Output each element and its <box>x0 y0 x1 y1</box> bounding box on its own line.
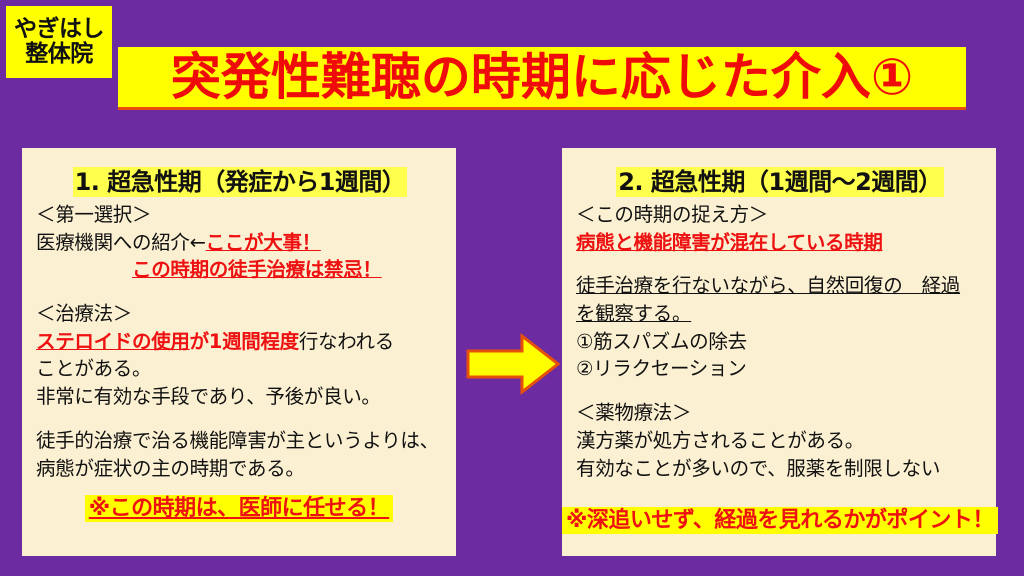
panel-2-line-3-text: 徒手治療を行ないながら、自然回復の 経過 <box>576 274 960 297</box>
panel-2-line-4-text: を観察する。 <box>576 302 691 325</box>
logo-line-2: 整体院 <box>25 42 93 67</box>
panel-phase-1: 1. 超急性期（発症から1週間） ＜第一選択＞ 医療機関への紹介←ここが大事！ … <box>22 148 456 556</box>
panel-1-line-9: 病態が症状の主の時期である。 <box>36 455 444 483</box>
panel-1-line-3-emphasis: この時期の徒手治療は禁忌！ <box>132 258 382 281</box>
panel-2-line-1: ＜この時期の捉え方＞ <box>576 201 984 229</box>
panel-2-line-5: ＜薬物療法＞ <box>576 399 984 427</box>
panel-1-line-1: ＜第一選択＞ <box>36 201 444 229</box>
logo-line-1: やぎはし <box>14 17 104 42</box>
panel-2-heading: 2. 超急性期（1週間～2週間） <box>576 162 984 197</box>
panel-1-line-8: 徒手的治療で治る機能障害が主というよりは、 <box>36 427 444 455</box>
panel-2-heading-text: 2. 超急性期（1週間～2週間） <box>616 167 944 197</box>
panel-1-line-4: ＜治療法＞ <box>36 300 444 328</box>
panel-1-line-2-main: 医療機関への紹介← <box>36 231 206 254</box>
panel-2-line-2: 病態と機能障害が混在している時期 <box>576 229 984 257</box>
panel-1-spacer-1 <box>36 284 444 300</box>
panel-2-line-2-emphasis: 病態と機能障害が混在している時期 <box>576 231 883 254</box>
panel-2-line-3: 徒手治療を行ないながら、自然回復の 経過 <box>576 272 984 300</box>
panel-1-line-6: ことがある。 <box>36 355 444 383</box>
panel-1-footer-wrap: ※この時期は、医師に任せる！ <box>22 480 456 522</box>
panel-1-footer-text: ※この時期は、医師に任せる！ <box>85 495 393 522</box>
panel-2-line-6: 漢方薬が処方されることがある。 <box>576 427 984 455</box>
panel-2-line-7: 有効なことが多いので、服薬を制限しない <box>576 455 984 483</box>
panel-1-line-5-tail: 行なわれる <box>299 330 394 353</box>
slide-canvas: やぎはし 整体院 突発性難聴の時期に応じた介入① 1. 超急性期（発症から1週間… <box>0 0 1024 576</box>
panel-1-spacer-2 <box>36 411 444 427</box>
panel-1-heading-text: 1. 超急性期（発症から1週間） <box>73 167 408 197</box>
panel-2-list-item-1: ①筋スパズムの除去 <box>576 328 984 356</box>
panel-2-list-item-2: ②リラクセーション <box>576 355 984 383</box>
panel-phase-2: 2. 超急性期（1週間～2週間） ＜この時期の捉え方＞ 病態と機能障害が混在して… <box>562 148 996 556</box>
slide-title: 突発性難聴の時期に応じた介入① <box>171 52 913 102</box>
panel-1-line-7: 非常に有効な手段であり、予後が良い。 <box>36 383 444 411</box>
panel-2-spacer-2 <box>576 383 984 399</box>
panel-2-body: ＜この時期の捉え方＞ 病態と機能障害が混在している時期 徒手治療を行ないながら、… <box>576 201 984 482</box>
panel-2-footer-text: ※深追いせず、経過を見れるかがポイント！ <box>562 507 998 534</box>
slide-title-band: 突発性難聴の時期に応じた介入① <box>118 47 966 110</box>
panel-2-footer: ※深追いせず、経過を見れるかがポイント！ <box>562 502 996 534</box>
panel-2-line-4: を観察する。 <box>576 300 984 328</box>
panel-1-line-5-emphasis: ステロイドの使用 <box>36 330 190 353</box>
clinic-logo-badge: やぎはし 整体院 <box>6 6 112 78</box>
panel-2-footer-wrap: ※深追いせず、経過を見れるかがポイント！ <box>562 492 996 534</box>
panel-2-spacer-1 <box>576 256 984 272</box>
panel-1-line-2-emphasis: ここが大事！ <box>206 231 321 254</box>
panel-1-footer: ※この時期は、医師に任せる！ <box>22 490 456 522</box>
panel-1-heading: 1. 超急性期（発症から1週間） <box>36 162 444 197</box>
panel-1-line-5-mid: が1週間程度 <box>190 330 299 353</box>
panel-1-line-5: ステロイドの使用が1週間程度行なわれる <box>36 328 444 356</box>
panel-1-body: ＜第一選択＞ 医療機関への紹介←ここが大事！ この時期の徒手治療は禁忌！ ＜治療… <box>36 201 444 482</box>
panel-1-line-3: この時期の徒手治療は禁忌！ <box>36 256 444 284</box>
right-arrow-icon <box>466 333 560 395</box>
panel-1-line-2: 医療機関への紹介←ここが大事！ <box>36 229 444 257</box>
